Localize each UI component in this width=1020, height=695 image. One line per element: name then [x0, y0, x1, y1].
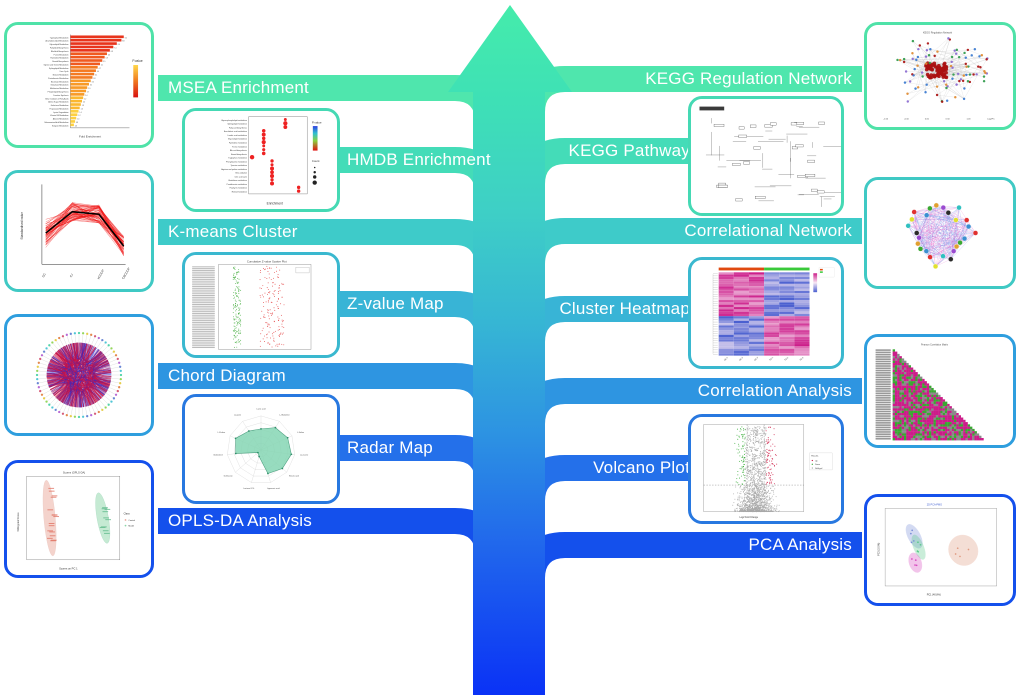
svg-text:Glycerolipid metabolism: Glycerolipid metabolism — [228, 138, 247, 141]
svg-text:1.4: 1.4 — [79, 112, 81, 114]
card-kegg-pathway[interactable] — [688, 96, 844, 216]
chart-chord — [7, 317, 151, 433]
svg-text:Class: Class — [124, 512, 131, 515]
svg-text:Steroid Biosynthesis: Steroid Biosynthesis — [52, 60, 68, 63]
card-msea-enrichment[interactable]: Tryptophan Metabolism9.2Arachidonic Acid… — [4, 22, 154, 148]
label-chord[interactable]: Chord Diagram — [168, 366, 286, 386]
label-volcano[interactable]: Volcano Plot — [593, 458, 690, 478]
svg-text:Vitamin B6 Metabolism: Vitamin B6 Metabolism — [50, 114, 69, 117]
svg-text:Glycerophospholipid metabolism: Glycerophospholipid metabolism — [221, 119, 247, 122]
chart-kegg-network: KEGG Regulation Network -1.00-0.500.000.… — [867, 25, 1013, 127]
svg-text:Arachidonic acid metabolism: Arachidonic acid metabolism — [224, 130, 247, 133]
svg-text:Carnitine Synthesis: Carnitine Synthesis — [53, 94, 69, 97]
svg-text:Lactic acid: Lactic acid — [257, 407, 266, 410]
card-kegg-regulation-network[interactable]: KEGG Regulation Network -1.00-0.500.000.… — [864, 22, 1016, 130]
card-pca-analysis[interactable]: 2D PCA-PMG PC1 (40.8%) PC2 (18.9%) — [864, 494, 1016, 606]
label-kegg-pathway[interactable]: KEGG Pathway — [569, 141, 690, 161]
svg-text:Retinol metabolism: Retinol metabolism — [232, 191, 248, 194]
svg-text:P.value: P.value — [312, 120, 322, 124]
chart-corr-triangle: Pearson Correlation Matrix — [867, 337, 1013, 445]
svg-text:Porphyrin metabolism: Porphyrin metabolism — [230, 187, 248, 190]
svg-text:Linoleic acid metabolism: Linoleic acid metabolism — [227, 134, 247, 137]
chart-radar: Lactic acidL-GlutamineL-ValineL-LeucineS… — [185, 397, 337, 501]
svg-text:2.7: 2.7 — [87, 92, 89, 94]
chart-msea-bar: Tryptophan Metabolism9.2Arachidonic Acid… — [7, 25, 151, 145]
svg-text:Scores on PC 1: Scores on PC 1 — [59, 566, 78, 570]
svg-text:Up: Up — [815, 460, 817, 462]
svg-text:2.9: 2.9 — [88, 88, 90, 90]
label-heatmap[interactable]: Cluster Heatmap — [559, 299, 690, 319]
svg-text:Scores (OPLS-DA): Scores (OPLS-DA) — [63, 470, 85, 474]
svg-text:Pantothenate Metabolism: Pantothenate Metabolism — [48, 77, 69, 80]
card-volcano-plot[interactable]: Results Up Down NoSignif Log2 Fold Chang… — [688, 414, 844, 524]
svg-text:Methionine Metabolism: Methionine Metabolism — [50, 87, 69, 90]
svg-text:Tyrosine metabolism: Tyrosine metabolism — [231, 164, 248, 167]
svg-text:Lactose-17:0: Lactose-17:0 — [243, 487, 254, 490]
svg-text:2.4: 2.4 — [85, 95, 87, 97]
svg-text:4.1: 4.1 — [95, 75, 97, 77]
label-kmeans[interactable]: K-means Cluster — [168, 222, 298, 242]
svg-text:3.2: 3.2 — [90, 85, 92, 87]
card-radar-map[interactable]: Lactic acidL-GlutamineL-ValineL-LeucineS… — [182, 394, 340, 504]
svg-text:PC2 (18.9%): PC2 (18.9%) — [878, 542, 880, 555]
svg-text:8.8: 8.8 — [122, 41, 124, 43]
svg-text:Bile Acid Biosynthesis: Bile Acid Biosynthesis — [51, 50, 69, 53]
svg-text:NoSignif: NoSignif — [815, 468, 823, 470]
svg-text:0.8: 0.8 — [76, 122, 78, 124]
svg-text:Pyrimidine Metabolism: Pyrimidine Metabolism — [50, 57, 69, 60]
label-corr-analysis[interactable]: Correlation Analysis — [698, 381, 852, 401]
card-zvalue-map[interactable]: Cumulative Z-value Scatter Plot — [182, 252, 340, 358]
svg-text:Glycerolipid Metabolism: Glycerolipid Metabolism — [49, 43, 69, 46]
svg-text:3.5: 3.5 — [92, 81, 94, 83]
svg-text:Phenylalanine metabolism: Phenylalanine metabolism — [226, 160, 247, 163]
svg-text:Pantothenate metabolism: Pantothenate metabolism — [227, 183, 248, 186]
svg-text:3.8: 3.8 — [93, 78, 95, 80]
svg-text:Beta Oxidation of Fatty Acids: Beta Oxidation of Fatty Acids — [45, 97, 68, 100]
svg-text:Selenoamino Acid Metabolism: Selenoamino Acid Metabolism — [44, 121, 69, 124]
svg-text:Sphingolipid Metabolism: Sphingolipid Metabolism — [49, 67, 69, 70]
label-msea[interactable]: MSEA Enrichment — [168, 78, 309, 98]
chart-volcano: Results Up Down NoSignif Log2 Fold Chang… — [691, 417, 841, 521]
svg-text:Butyrate Metabolism: Butyrate Metabolism — [52, 124, 69, 127]
card-cluster-heatmap[interactable]: CK-1CK-2CK-3TR-1TR-2TR-3 — [688, 257, 844, 369]
svg-text:Cholesterol: Cholesterol — [213, 454, 223, 457]
svg-text:1.6: 1.6 — [81, 108, 83, 110]
svg-text:D-Glucose: D-Glucose — [224, 476, 233, 478]
svg-text:Glutamate Metabolism: Glutamate Metabolism — [51, 84, 69, 87]
svg-text:Tryptophan Metabolism: Tryptophan Metabolism — [50, 36, 69, 39]
svg-text:1.0: 1.0 — [77, 119, 79, 121]
svg-text:9.2: 9.2 — [125, 37, 127, 39]
svg-text:5.1: 5.1 — [101, 64, 103, 66]
svg-text:Arginine and proline metabolis: Arginine and proline metabolism — [221, 168, 247, 171]
svg-text:4.7: 4.7 — [99, 68, 101, 70]
svg-text:Steroid biosynthesis: Steroid biosynthesis — [231, 153, 247, 156]
svg-text:L-Valine: L-Valine — [297, 432, 304, 434]
chart-pca: 2D PCA-PMG PC1 (40.8%) PC2 (18.9%) — [867, 497, 1013, 603]
svg-text:Cumulative Z-value Scatter Plo: Cumulative Z-value Scatter Plot — [247, 260, 287, 264]
chart-kmeans-lines: Standardised value DC CJ XCDDP CBCDDP — [7, 173, 151, 289]
svg-text:Citric acid cycle: Citric acid cycle — [234, 175, 246, 178]
chart-oplsda: Scores (OPLS-DA) Class Control Model Sco… — [7, 463, 151, 575]
svg-text:Standardised value: Standardised value — [20, 212, 24, 240]
left-pipe-edges — [158, 75, 166, 101]
svg-text:2.2: 2.2 — [84, 98, 86, 100]
svg-text:KEGG Regulation Network: KEGG Regulation Network — [923, 32, 953, 35]
svg-text:Results: Results — [811, 455, 818, 458]
svg-text:0.6: 0.6 — [75, 125, 77, 127]
svg-text:6.8: 6.8 — [111, 51, 113, 53]
svg-text:1.2: 1.2 — [78, 115, 80, 117]
chart-cluster-heatmap: CK-1CK-2CK-3TR-1TR-2TR-3 — [691, 260, 841, 366]
chart-kegg-pathway — [691, 99, 841, 213]
svg-text:7.4: 7.4 — [114, 47, 116, 49]
label-corr-network[interactable]: Correlational Network — [684, 221, 852, 241]
svg-text:Phospholipid Biosynthesis: Phospholipid Biosynthesis — [48, 91, 69, 94]
label-oplsda[interactable]: OPLS-DA Analysis — [168, 511, 312, 531]
svg-text:4.4: 4.4 — [97, 71, 99, 73]
svg-text:Galactose Metabolism: Galactose Metabolism — [51, 104, 69, 107]
svg-text:Pyrimidine metabolism: Pyrimidine metabolism — [229, 142, 247, 145]
svg-text:Sphingolipid metabolism: Sphingolipid metabolism — [228, 123, 248, 126]
svg-text:Arachidonic Acid Metabolism: Arachidonic Acid Metabolism — [46, 40, 69, 43]
svg-text:Count: Count — [312, 159, 320, 163]
svg-text:Fold Enrichment: Fold Enrichment — [79, 134, 101, 138]
label-hmdb[interactable]: HMDB Enrichment — [347, 150, 491, 170]
svg-text:Purine metabolism: Purine metabolism — [232, 145, 247, 148]
label-kegg-network[interactable]: KEGG Regulation Network — [645, 69, 852, 89]
svg-text:8.0: 8.0 — [118, 44, 120, 46]
chart-zvalue-scatter: Cumulative Z-value Scatter Plot — [185, 255, 337, 355]
card-chord-diagram[interactable] — [4, 314, 154, 436]
chart-corr-network — [867, 180, 1013, 286]
svg-text:P.value: P.value — [132, 59, 143, 63]
svg-text:1.8: 1.8 — [82, 105, 84, 107]
svg-text:Model: Model — [128, 526, 134, 528]
infographic-root: MSEA Enrichment HMDB Enrichment K-means … — [0, 0, 1020, 695]
svg-text:Stearic acid: Stearic acid — [289, 475, 299, 478]
svg-text:Log2FC: Log2FC — [987, 118, 995, 120]
svg-text:Glutathione metabolism: Glutathione metabolism — [228, 179, 247, 182]
svg-text:L-Lysine: L-Lysine — [234, 415, 241, 417]
svg-text:Propanoate Metabolism: Propanoate Metabolism — [50, 107, 69, 110]
svg-text:Lignoceric acid: Lignoceric acid — [267, 487, 280, 490]
svg-text:Fatty Acid Biosynthesis: Fatty Acid Biosynthesis — [50, 46, 69, 49]
svg-text:Purine Metabolism: Purine Metabolism — [54, 53, 69, 56]
svg-text:Down: Down — [815, 464, 820, 466]
svg-text:Tryptophan metabolism: Tryptophan metabolism — [228, 157, 247, 160]
svg-text:Betaine Metabolism: Betaine Metabolism — [53, 74, 69, 77]
svg-text:Lysine Degradation: Lysine Degradation — [53, 111, 68, 114]
label-zvalue[interactable]: Z-value Map — [347, 294, 444, 314]
card-hmdb-enrichment[interactable]: Glycerophospholipid metabolismSphingolip… — [182, 108, 340, 212]
svg-text:Urea Cycle: Urea Cycle — [60, 71, 69, 73]
svg-text:Orthogonal Scores: Orthogonal Scores — [17, 512, 20, 532]
card-kmeans-cluster[interactable]: Standardised value DC CJ XCDDP CBCDDP — [4, 170, 154, 292]
label-radar[interactable]: Radar Map — [347, 438, 433, 458]
card-correlation-analysis[interactable]: Pearson Correlation Matrix — [864, 334, 1016, 448]
svg-text:L-Glutamine: L-Glutamine — [279, 414, 289, 417]
svg-text:Enrichment: Enrichment — [267, 201, 283, 205]
svg-text:2.0: 2.0 — [83, 102, 85, 104]
card-oplsda-analysis[interactable]: Scores (OPLS-DA) Class Control Model Sco… — [4, 460, 154, 578]
svg-text:L-Proline: L-Proline — [218, 431, 226, 434]
svg-text:Control: Control — [128, 519, 135, 522]
svg-text:Fatty acid biosynthesis: Fatty acid biosynthesis — [229, 126, 247, 129]
svg-text:L-Leucine: L-Leucine — [300, 455, 308, 457]
svg-text:2D PCA-PMG: 2D PCA-PMG — [927, 504, 942, 507]
card-correlational-network[interactable] — [864, 177, 1016, 289]
svg-text:Pearson Correlation Matrix: Pearson Correlation Matrix — [921, 344, 949, 347]
svg-text:6.3: 6.3 — [108, 54, 110, 56]
chart-hmdb-dot: Glycerophospholipid metabolismSphingolip… — [185, 111, 337, 209]
svg-text:Glycine and Serine Metabolism: Glycine and Serine Metabolism — [44, 63, 69, 66]
svg-text:5.9: 5.9 — [106, 58, 108, 60]
label-pca[interactable]: PCA Analysis — [748, 535, 852, 555]
trunk-arrow — [448, 5, 572, 695]
svg-text:Beta oxidation: Beta oxidation — [236, 172, 247, 175]
svg-text:Bile acid biosynthesis: Bile acid biosynthesis — [230, 149, 247, 152]
svg-text:Amino Sugar Metabolism: Amino Sugar Metabolism — [48, 101, 69, 104]
svg-text:Nicotinate Metabolism: Nicotinate Metabolism — [51, 80, 69, 83]
svg-text:Alanine Metabolism: Alanine Metabolism — [53, 118, 69, 121]
svg-text:Log2 Fold Change: Log2 Fold Change — [740, 517, 759, 519]
svg-text:PC1 (40.8%): PC1 (40.8%) — [927, 593, 941, 596]
svg-text:5.5: 5.5 — [103, 61, 105, 63]
